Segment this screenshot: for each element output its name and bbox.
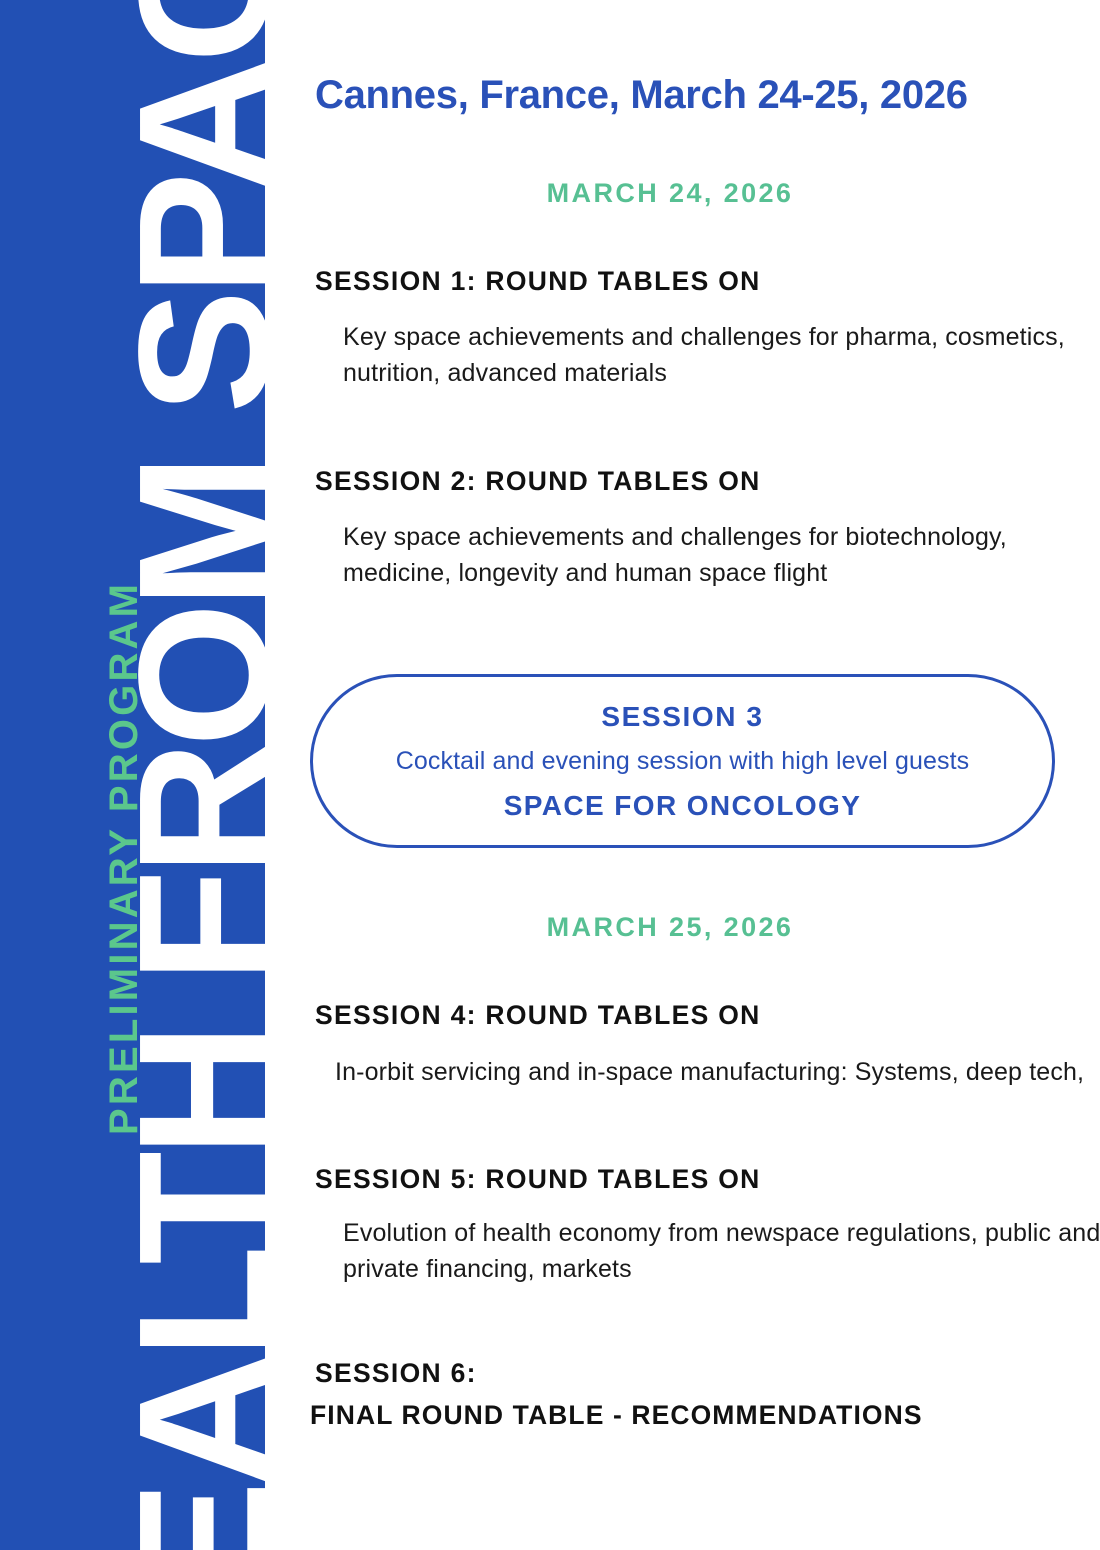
session-4-title: SESSION 4: ROUND TABLES ON (315, 1000, 1100, 1032)
vertical-subtitle: PRELIMINARY PROGRAM (104, 581, 144, 1135)
session-6-body: FINAL ROUND TABLE - RECOMMENDATIONS (310, 1400, 1100, 1431)
session-3-callout: SESSION 3 Cocktail and evening session w… (310, 674, 1055, 848)
session-1-body: Key space achievements and challenges fo… (343, 320, 1100, 391)
event-title: Cannes, France, March 24-25, 2026 (315, 72, 1100, 118)
day-heading-march-24: MARCH 24, 2026 (275, 178, 1065, 209)
session-3-title: SESSION 3 (601, 701, 763, 733)
session-1-title: SESSION 1: ROUND TABLES ON (315, 266, 1100, 298)
content-column: Cannes, France, March 24-25, 2026 MARCH … (265, 0, 1100, 1550)
day-heading-march-25: MARCH 25, 2026 (275, 912, 1065, 943)
sidebar-band: HEALTH FROM SPACE PRELIMINARY PROGRAM (0, 0, 265, 1550)
session-2-body: Key space achievements and challenges fo… (343, 520, 1100, 591)
session-5-body: Evolution of health economy from newspac… (343, 1216, 1100, 1287)
session-2-title: SESSION 2: ROUND TABLES ON (315, 466, 1100, 498)
poster-page: HEALTH FROM SPACE PRELIMINARY PROGRAM Ca… (0, 0, 1100, 1550)
session-3-theme: SPACE FOR ONCOLOGY (504, 790, 862, 822)
session-5-title: SESSION 5: ROUND TABLES ON (315, 1164, 1100, 1196)
session-3-description: Cocktail and evening session with high l… (396, 747, 969, 776)
session-4-body: In-orbit servicing and in-space manufact… (335, 1055, 1095, 1091)
session-6-title: SESSION 6: (315, 1358, 1100, 1390)
